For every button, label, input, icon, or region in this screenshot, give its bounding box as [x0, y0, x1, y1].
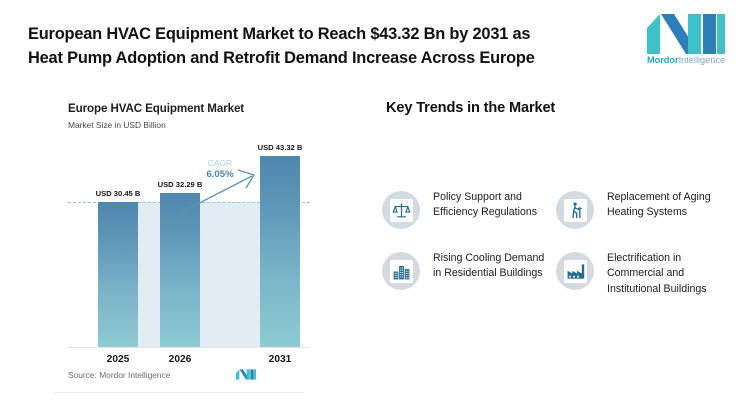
logo-word-primary: Mordor — [647, 55, 679, 65]
chart-source-text: Source: Mordor Intelligence — [68, 370, 170, 380]
source-logo-icon — [236, 368, 256, 381]
x-tick-2026: 2026 — [152, 354, 208, 365]
icon-plate — [390, 260, 413, 283]
chart-subtitle: Market Size in USD Billion — [68, 120, 166, 130]
icon-plate — [390, 199, 413, 222]
bar-chart-plot: USD 30.45 B USD 32.29 B USD 43.32 B CAGR… — [68, 156, 304, 348]
trend-icon-badge — [382, 252, 420, 290]
trend-item-replacement-aging-heating: Replacement of Aging Heating Systems — [556, 190, 730, 229]
trend-item-label: Policy Support and Efficiency Regulation… — [433, 190, 549, 221]
bar-2025 — [98, 202, 138, 348]
headline-line-2: Heat Pump Adoption and Retrofit Demand I… — [28, 46, 620, 70]
bar-label-2025: USD 30.45 B — [82, 189, 154, 198]
bar-label-2031: USD 43.32 B — [244, 143, 316, 152]
bar-2031 — [260, 156, 300, 348]
trend-item-rising-cooling-demand: Rising Cooling Demand in Residential Bui… — [382, 251, 556, 297]
headline-line-1: European HVAC Equipment Market to Reach … — [28, 22, 620, 46]
mordor-intelligence-logo: MordorIntelligence — [638, 14, 734, 74]
trend-icon-badge — [556, 252, 594, 290]
trend-item-label: Electrification in Commercial and Instit… — [607, 251, 723, 297]
trend-item-label: Rising Cooling Demand in Residential Bui… — [433, 251, 549, 282]
key-trends-title: Key Trends in the Market — [386, 100, 555, 116]
chart-title: Europe HVAC Equipment Market — [68, 102, 244, 115]
trend-item-label: Replacement of Aging Heating Systems — [607, 190, 723, 221]
logo-word-secondary: Intelligence — [679, 55, 725, 65]
axis-baseline — [68, 347, 310, 348]
key-trends-panel: Key Trends in the Market — [382, 96, 730, 386]
x-tick-2031: 2031 — [252, 354, 308, 365]
trend-item-policy-support: Policy Support and Efficiency Regulation… — [382, 190, 556, 229]
trend-item-electrification: Electrification in Commercial and Instit… — [556, 251, 730, 297]
key-trends-grid: Policy Support and Efficiency Regulation… — [382, 190, 730, 297]
trend-icon-badge — [556, 191, 594, 229]
factory-icon — [566, 262, 585, 281]
logo-wordmark: MordorIntelligence — [638, 56, 734, 65]
city-buildings-icon — [392, 262, 411, 281]
chart-panel: Europe HVAC Equipment Market Market Size… — [54, 96, 304, 393]
page-title: European HVAC Equipment Market to Reach … — [28, 22, 620, 71]
header: European HVAC Equipment Market to Reach … — [0, 0, 750, 88]
x-tick-2025: 2025 — [90, 354, 146, 365]
column-band — [138, 202, 160, 348]
logo-mark-icon — [647, 14, 725, 54]
icon-plate — [564, 260, 587, 283]
trend-icon-badge — [382, 191, 420, 229]
icon-plate — [564, 199, 587, 222]
scales-balance-icon — [392, 201, 411, 220]
cagr-arrow-icon — [176, 166, 266, 226]
chart-source-row: Source: Mordor Intelligence — [68, 368, 290, 382]
elderly-person-cane-icon — [566, 201, 585, 220]
